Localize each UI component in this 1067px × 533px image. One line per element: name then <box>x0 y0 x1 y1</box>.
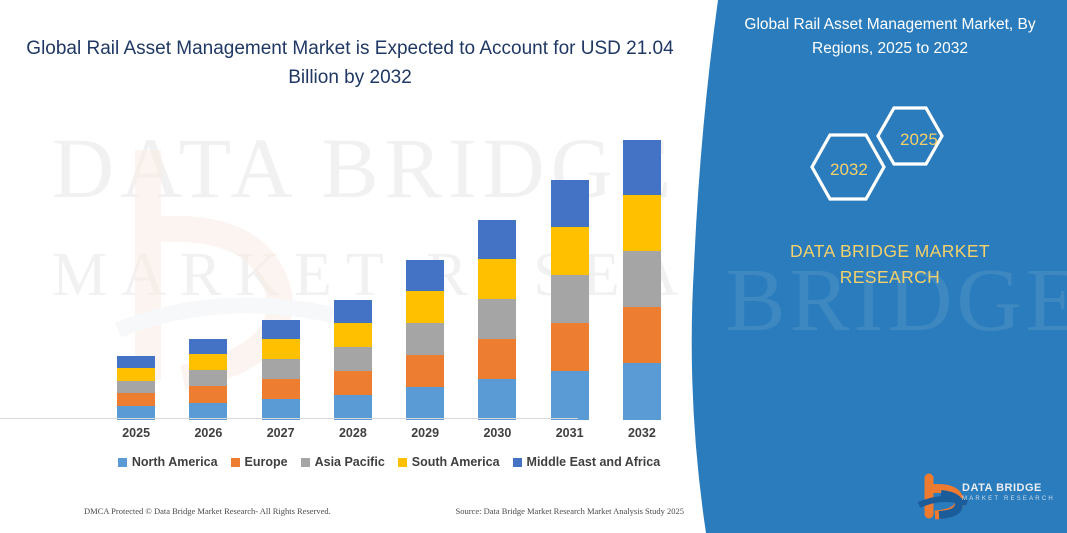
bar-segment <box>406 291 444 323</box>
bar-segment <box>117 393 155 406</box>
bar-column-2027 <box>250 112 312 420</box>
bar-segment <box>334 323 372 347</box>
legend-label: Europe <box>245 455 288 469</box>
bar-segment <box>478 299 516 339</box>
legend-label: South America <box>412 455 500 469</box>
stacked-bar <box>117 356 155 420</box>
stacked-bar <box>262 320 300 420</box>
bar-segment <box>334 371 372 395</box>
legend-label: Asia Pacific <box>315 455 385 469</box>
hexagon-year-badges <box>800 95 1000 205</box>
bar-segment <box>551 180 589 227</box>
bar-segment <box>623 195 661 251</box>
bar-column-2032 <box>611 112 673 420</box>
legend-item[interactable]: Europe <box>231 455 288 469</box>
legend-label: Middle East and Africa <box>527 455 661 469</box>
legend-item[interactable]: North America <box>118 455 218 469</box>
x-axis-label-2029: 2029 <box>394 426 456 440</box>
bar-segment <box>117 356 155 368</box>
x-axis-labels: 20252026202720282029203020312032 <box>100 426 678 440</box>
bar-segment <box>478 259 516 299</box>
bar-segment <box>189 386 227 403</box>
stacked-bar <box>551 180 589 420</box>
bar-column-2026 <box>177 112 239 420</box>
bar-segment <box>262 379 300 399</box>
hexagon-2025-label: 2025 <box>900 130 938 150</box>
x-axis-label-2032: 2032 <box>611 426 673 440</box>
bar-segment <box>623 140 661 195</box>
legend-label: North America <box>132 455 218 469</box>
bar-column-2028 <box>322 112 384 420</box>
bar-column-2029 <box>394 112 456 420</box>
bar-segment <box>551 323 589 371</box>
brand-line-2: RESEARCH <box>840 267 940 287</box>
bar-segment <box>623 307 661 363</box>
bar-segment <box>551 371 589 420</box>
bar-segment <box>189 339 227 354</box>
bar-segment <box>406 323 444 355</box>
chart-plot-area <box>100 112 678 420</box>
stacked-bar <box>334 300 372 420</box>
x-axis-label-2026: 2026 <box>177 426 239 440</box>
bar-segment <box>262 320 300 339</box>
brand-name: DATA BRIDGE MARKET RESEARCH <box>730 238 1050 290</box>
bar-column-2025 <box>105 112 167 420</box>
chart-legend: North AmericaEuropeAsia PacificSouth Ame… <box>100 455 678 469</box>
x-axis-label-2030: 2030 <box>466 426 528 440</box>
corner-logo-text-secondary: MARKET RESEARCH <box>962 496 1055 502</box>
page-title: Global Rail Asset Management Market is E… <box>0 34 700 92</box>
right-panel-content: Global Rail Asset Management Market, By … <box>740 0 1067 533</box>
legend-item[interactable]: Middle East and Africa <box>513 455 661 469</box>
bar-segment <box>189 370 227 386</box>
panel-title: Global Rail Asset Management Market, By … <box>730 13 1050 61</box>
stacked-bar <box>623 140 661 420</box>
bar-segment <box>623 363 661 420</box>
bar-segment <box>334 395 372 420</box>
bar-column-2031 <box>539 112 601 420</box>
stacked-bar <box>406 260 444 420</box>
legend-swatch-icon <box>513 458 522 467</box>
x-axis-label-2028: 2028 <box>322 426 384 440</box>
x-axis-label-2027: 2027 <box>250 426 312 440</box>
bar-segment <box>262 399 300 420</box>
bar-segment <box>406 387 444 420</box>
bar-segment <box>406 260 444 291</box>
legend-swatch-icon <box>118 458 127 467</box>
bar-segment <box>262 339 300 359</box>
bar-segment <box>478 379 516 420</box>
footer-source: Source: Data Bridge Market Research Mark… <box>455 506 684 516</box>
left-chart-panel: DATA BRIDGE MARKET RESEARCH Global Rail … <box>0 0 740 533</box>
legend-swatch-icon <box>398 458 407 467</box>
legend-item[interactable]: South America <box>398 455 500 469</box>
stacked-bar <box>189 339 227 420</box>
bar-segment <box>406 355 444 387</box>
bar-segment <box>551 227 589 275</box>
brand-line-1: DATA BRIDGE MARKET <box>790 241 990 261</box>
bar-segment <box>478 339 516 379</box>
x-axis-line <box>0 418 578 419</box>
bar-segment <box>478 220 516 259</box>
hexagon-2032-label: 2032 <box>830 160 868 180</box>
corner-logo-text-primary: DATA BRIDGE <box>962 482 1042 494</box>
x-axis-label-2031: 2031 <box>539 426 601 440</box>
legend-swatch-icon <box>231 458 240 467</box>
bar-column-2030 <box>466 112 528 420</box>
bar-segment <box>334 347 372 371</box>
bar-segment <box>262 359 300 379</box>
legend-item[interactable]: Asia Pacific <box>301 455 385 469</box>
x-axis-label-2025: 2025 <box>105 426 167 440</box>
bar-segment <box>623 251 661 307</box>
bar-segment <box>117 381 155 393</box>
bar-segment <box>189 354 227 370</box>
bar-segment <box>551 275 589 323</box>
legend-swatch-icon <box>301 458 310 467</box>
stacked-bar-chart <box>100 110 678 420</box>
stacked-bar <box>478 220 516 420</box>
footer: DMCA Protected © Data Bridge Market Rese… <box>84 506 684 516</box>
bar-segment <box>334 300 372 323</box>
footer-copyright: DMCA Protected © Data Bridge Market Rese… <box>84 506 331 516</box>
bar-segment <box>117 368 155 381</box>
